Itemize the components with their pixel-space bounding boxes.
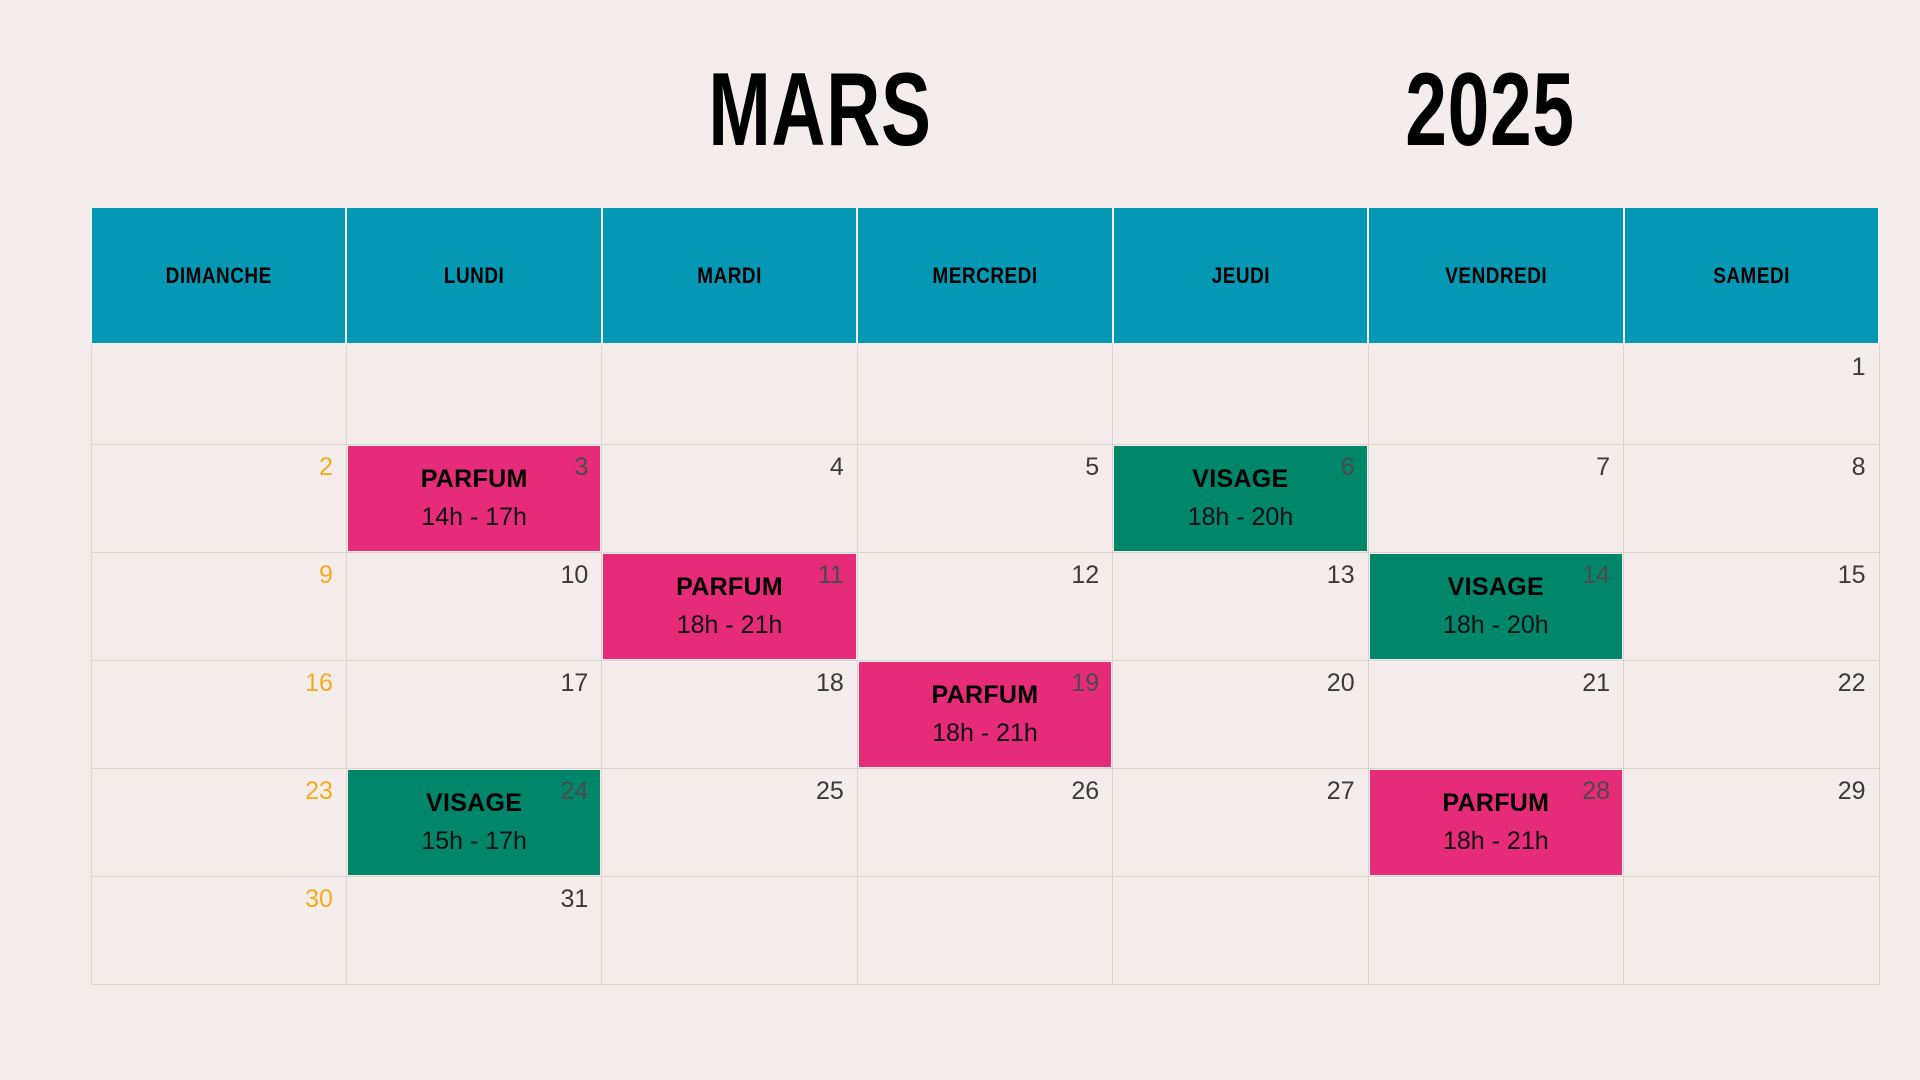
day-cell-empty [602, 344, 857, 444]
day-number: 6 [1341, 455, 1355, 480]
day-cell[interactable]: 8 [1624, 444, 1879, 552]
day-cell[interactable]: 20 [1113, 660, 1368, 768]
day-cell[interactable]: VISAGE18h - 20h6 [1113, 444, 1368, 552]
day-cell-inner: 15 [1624, 553, 1878, 660]
day-number: 31 [561, 887, 589, 912]
event-block-visage[interactable]: VISAGE18h - 20h [1114, 446, 1366, 551]
day-cell-inner: 1 [1624, 345, 1878, 444]
day-cell[interactable]: 27 [1113, 768, 1368, 876]
day-cell[interactable]: VISAGE15h - 17h24 [346, 768, 601, 876]
weekday-header-lundi: LUNDI [346, 207, 601, 344]
day-cell-inner: 26 [858, 769, 1112, 876]
day-number: 17 [561, 671, 589, 696]
day-cell-inner: 2 [92, 445, 346, 552]
day-cell[interactable]: 2 [91, 444, 346, 552]
day-number: 11 [818, 563, 844, 588]
day-number: 22 [1838, 671, 1866, 696]
day-cell-inner: PARFUM18h - 21h28 [1369, 769, 1623, 876]
day-number: 28 [1582, 779, 1610, 804]
weekday-header-mercredi: MERCREDI [857, 207, 1112, 344]
event-title: PARFUM [932, 683, 1039, 708]
event-time: 18h - 21h [932, 721, 1038, 746]
calendar-grid: DIMANCHELUNDIMARDIMERCREDIJEUDIVENDREDIS… [90, 206, 1880, 985]
event-time: 18h - 21h [677, 613, 783, 638]
day-cell-inner: PARFUM18h - 21h11 [602, 553, 856, 660]
day-cell-inner: 4 [602, 445, 856, 552]
day-cell[interactable]: 17 [346, 660, 601, 768]
day-cell[interactable]: 1 [1624, 344, 1879, 444]
event-time: 18h - 20h [1443, 613, 1549, 638]
day-cell-inner: 27 [1113, 769, 1367, 876]
day-cell-empty [346, 344, 601, 444]
day-cell[interactable]: PARFUM18h - 21h11 [602, 552, 857, 660]
day-number: 7 [1596, 455, 1610, 480]
day-number: 20 [1327, 671, 1355, 696]
day-number: 18 [816, 671, 844, 696]
day-number: 15 [1838, 563, 1866, 588]
day-cell-inner: 21 [1369, 661, 1623, 768]
calendar-header-row: DIMANCHELUNDIMARDIMERCREDIJEUDIVENDREDIS… [91, 207, 1879, 344]
day-cell-inner: VISAGE18h - 20h6 [1113, 445, 1367, 552]
day-cell-inner: 31 [347, 877, 601, 984]
day-number: 16 [305, 671, 333, 696]
day-cell-inner [1369, 877, 1623, 984]
event-title: VISAGE [1448, 575, 1544, 600]
day-cell-inner [1113, 877, 1367, 984]
day-cell[interactable]: 16 [91, 660, 346, 768]
weekday-header-label: VENDREDI [1445, 263, 1547, 289]
calendar-week-row: 910PARFUM18h - 21h111213VISAGE18h - 20h1… [91, 552, 1879, 660]
calendar-title-bar: MARS 2025 [0, 32, 1920, 152]
calendar-week-row: 3031 [91, 876, 1879, 984]
day-number: 3 [574, 455, 588, 480]
day-cell-inner: 10 [347, 553, 601, 660]
event-title: PARFUM [676, 575, 783, 600]
event-block-parfum[interactable]: PARFUM14h - 17h [348, 446, 600, 551]
day-number: 8 [1852, 455, 1866, 480]
event-time: 15h - 17h [421, 829, 527, 854]
day-number: 27 [1327, 779, 1355, 804]
weekday-header-label: MERCREDI [932, 263, 1037, 289]
day-cell-inner: 20 [1113, 661, 1367, 768]
day-cell[interactable]: 26 [857, 768, 1112, 876]
day-cell-inner: 18 [602, 661, 856, 768]
day-cell[interactable]: 23 [91, 768, 346, 876]
day-cell[interactable]: 15 [1624, 552, 1879, 660]
event-title: PARFUM [1442, 791, 1549, 816]
day-cell-empty [1368, 876, 1623, 984]
day-cell-inner: 13 [1113, 553, 1367, 660]
day-cell[interactable]: PARFUM14h - 17h3 [346, 444, 601, 552]
day-cell-inner: PARFUM18h - 21h19 [858, 661, 1112, 768]
day-cell[interactable]: VISAGE18h - 20h14 [1368, 552, 1623, 660]
event-title: VISAGE [1192, 467, 1288, 492]
event-title: PARFUM [421, 467, 528, 492]
day-cell[interactable]: PARFUM18h - 21h28 [1368, 768, 1623, 876]
day-cell-inner [602, 345, 856, 444]
month-title: MARS [230, 58, 1411, 162]
day-cell[interactable]: 22 [1624, 660, 1879, 768]
weekday-header-label: SAMEDI [1713, 263, 1790, 289]
day-number: 2 [319, 455, 333, 480]
day-cell[interactable]: 18 [602, 660, 857, 768]
day-cell-inner: 8 [1624, 445, 1878, 552]
day-number: 4 [830, 455, 844, 480]
day-cell[interactable]: 25 [602, 768, 857, 876]
weekday-header-samedi: SAMEDI [1624, 207, 1879, 344]
day-cell-inner: VISAGE15h - 17h24 [347, 769, 601, 876]
day-cell[interactable]: 7 [1368, 444, 1623, 552]
day-number: 24 [561, 779, 589, 804]
weekday-header-vendredi: VENDREDI [1368, 207, 1623, 344]
day-number: 26 [1071, 779, 1099, 804]
calendar-page: MARS 2025 DIMANCHELUNDIMARDIMERCREDIJEUD… [0, 0, 1920, 1080]
weekday-header-label: JEUDI [1211, 263, 1269, 289]
calendar-week-row: 1 [91, 344, 1879, 444]
weekday-header-jeudi: JEUDI [1113, 207, 1368, 344]
day-cell[interactable]: 9 [91, 552, 346, 660]
day-cell[interactable]: 5 [857, 444, 1112, 552]
day-cell-empty [857, 876, 1112, 984]
day-cell-inner [347, 345, 601, 444]
day-cell[interactable]: 10 [346, 552, 601, 660]
day-number: 14 [1582, 563, 1610, 588]
day-cell-inner: 25 [602, 769, 856, 876]
day-cell-empty [1113, 344, 1368, 444]
event-title: VISAGE [426, 791, 522, 816]
day-cell-empty [1368, 344, 1623, 444]
day-cell-inner [1624, 877, 1878, 984]
calendar-week-row: 23VISAGE15h - 17h24252627PARFUM18h - 21h… [91, 768, 1879, 876]
day-number: 5 [1085, 455, 1099, 480]
event-time: 18h - 21h [1443, 829, 1549, 854]
day-cell-inner: 5 [858, 445, 1112, 552]
day-cell-inner [858, 345, 1112, 444]
year-title: 2025 [1267, 58, 1713, 162]
weekday-header-label: LUNDI [444, 263, 504, 289]
day-cell-inner [92, 345, 346, 444]
day-cell-inner [602, 877, 856, 984]
day-cell-inner [1113, 345, 1367, 444]
day-number: 29 [1838, 779, 1866, 804]
day-cell-empty [1113, 876, 1368, 984]
day-cell-inner: 22 [1624, 661, 1878, 768]
day-cell[interactable]: 12 [857, 552, 1112, 660]
day-number: 25 [816, 779, 844, 804]
calendar-week-row: 2PARFUM14h - 17h345VISAGE18h - 20h678 [91, 444, 1879, 552]
event-time: 18h - 20h [1188, 505, 1294, 530]
day-cell-empty [602, 876, 857, 984]
day-cell-empty [91, 344, 346, 444]
weekday-header-mardi: MARDI [602, 207, 857, 344]
day-number: 9 [319, 563, 333, 588]
day-cell[interactable]: 31 [346, 876, 601, 984]
day-cell-inner: 9 [92, 553, 346, 660]
day-cell-inner: 12 [858, 553, 1112, 660]
day-number: 30 [305, 887, 333, 912]
day-cell-inner: 16 [92, 661, 346, 768]
calendar-body: 12PARFUM14h - 17h345VISAGE18h - 20h67891… [91, 344, 1879, 984]
day-cell-inner: VISAGE18h - 20h14 [1369, 553, 1623, 660]
day-number: 10 [561, 563, 589, 588]
day-cell-inner: 23 [92, 769, 346, 876]
day-cell-empty [1624, 876, 1879, 984]
day-cell-inner: PARFUM14h - 17h3 [347, 445, 601, 552]
weekday-header-dimanche: DIMANCHE [91, 207, 346, 344]
calendar-week-row: 161718PARFUM18h - 21h19202122 [91, 660, 1879, 768]
event-time: 14h - 17h [421, 505, 527, 530]
day-number: 21 [1582, 671, 1610, 696]
weekday-header-label: MARDI [697, 263, 762, 289]
day-cell[interactable]: 21 [1368, 660, 1623, 768]
day-cell-inner: 29 [1624, 769, 1878, 876]
day-cell-inner [858, 877, 1112, 984]
day-cell-inner [1369, 345, 1623, 444]
day-cell-empty [857, 344, 1112, 444]
day-number: 23 [305, 779, 333, 804]
day-cell-inner: 30 [92, 877, 346, 984]
day-cell[interactable]: 29 [1624, 768, 1879, 876]
day-number: 12 [1071, 563, 1099, 588]
day-cell[interactable]: 13 [1113, 552, 1368, 660]
day-number: 19 [1071, 671, 1099, 696]
day-number: 1 [1852, 355, 1866, 380]
day-cell[interactable]: 30 [91, 876, 346, 984]
day-cell[interactable]: 4 [602, 444, 857, 552]
day-cell[interactable]: PARFUM18h - 21h19 [857, 660, 1112, 768]
day-number: 13 [1327, 563, 1355, 588]
day-cell-inner: 17 [347, 661, 601, 768]
weekday-header-label: DIMANCHE [166, 263, 272, 289]
day-cell-inner: 7 [1369, 445, 1623, 552]
